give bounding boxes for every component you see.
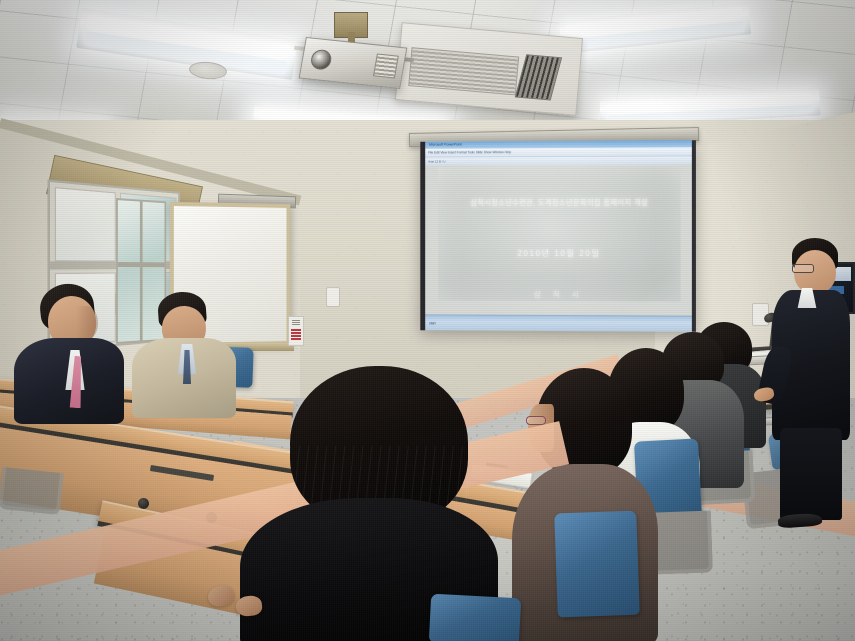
projected-app-chrome: Microsoft PowerPoint File Edit View Inse… (425, 140, 692, 165)
trousers (780, 428, 842, 520)
emergency-sign (288, 316, 304, 346)
projection-screen: Microsoft PowerPoint File Edit View Inse… (420, 140, 696, 332)
projected-format-bar: Arial 12 B I U (425, 156, 692, 165)
seated-official-person (18, 284, 126, 416)
projector-vent (373, 53, 399, 78)
slide-date: 2010년 10월 20일 (518, 248, 601, 259)
window-pane (55, 187, 116, 262)
ceiling-projector (296, 12, 408, 86)
presenter-person (778, 238, 848, 530)
projector-body (299, 37, 408, 89)
projected-taskbar: start (425, 314, 692, 331)
seated-official-person (134, 292, 236, 412)
eyeglasses-icon (792, 264, 814, 273)
ac-vent (515, 54, 562, 100)
chair-frame (0, 467, 64, 515)
chair[interactable] (554, 511, 640, 618)
slide-title: 삼척시청소년수련관, 도계청소년문화의집 홈페이지 개설 (470, 198, 648, 208)
projector-lens-icon (310, 48, 333, 70)
presentation-slide: 삼척시청소년수련관, 도계청소년문화의집 홈페이지 개설 2010년 10월 2… (438, 167, 681, 302)
wall-outlet[interactable] (326, 287, 340, 307)
chair[interactable] (429, 594, 521, 641)
face-shading (76, 306, 98, 340)
conference-room-photo: Microsoft PowerPoint File Edit View Inse… (0, 0, 855, 641)
slide-organization: 삼 척 시 (534, 289, 584, 300)
ceiling-air-conditioner (395, 22, 583, 116)
ac-grille (408, 47, 519, 96)
